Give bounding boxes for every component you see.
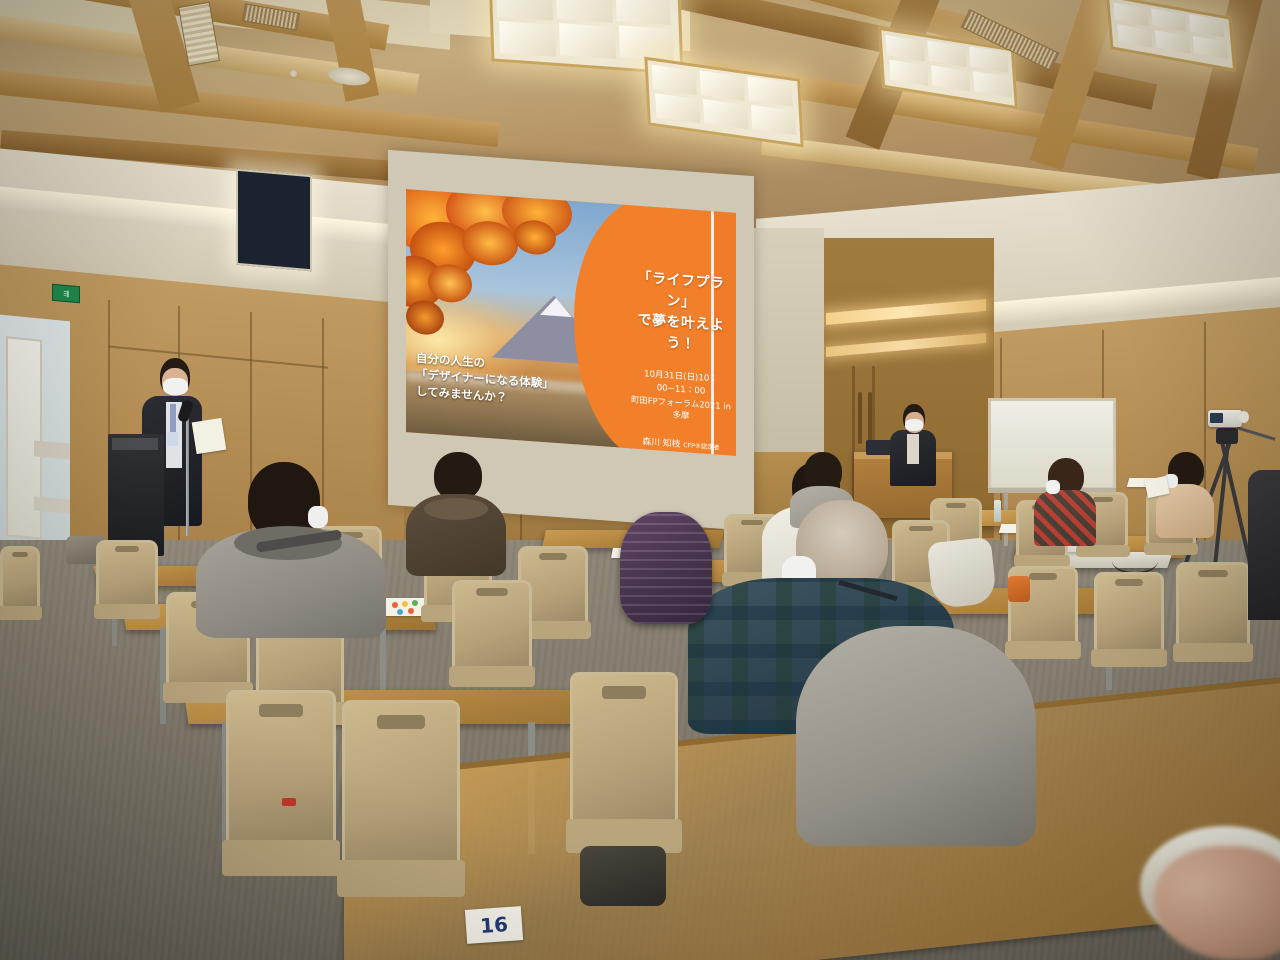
name-badge bbox=[167, 432, 178, 446]
face-mask bbox=[308, 506, 328, 528]
table-clamp bbox=[282, 798, 296, 806]
face-mask bbox=[163, 378, 188, 395]
slide-right-text: 「ライフプラン」 で夢を叶えよう！ 10月31日(日)10：00~11：00 町… bbox=[628, 215, 734, 456]
microphone-stand[interactable] bbox=[186, 416, 189, 536]
tripod-head[interactable] bbox=[1216, 428, 1238, 444]
wall-notice bbox=[34, 440, 70, 459]
slide-headline-line2: で夢を叶えよう！ bbox=[628, 309, 734, 359]
chair[interactable] bbox=[96, 540, 158, 608]
attendee-grey-hoodie bbox=[196, 462, 386, 632]
attendee-patterned-top bbox=[1034, 458, 1096, 540]
av-equipment-rack bbox=[108, 434, 164, 556]
chair[interactable] bbox=[1176, 562, 1250, 648]
partition-door-handle[interactable] bbox=[868, 392, 872, 444]
av-rack-panel bbox=[112, 438, 158, 450]
attendee-grey-fleece bbox=[796, 626, 1036, 846]
chair[interactable] bbox=[1094, 572, 1164, 654]
attendee-brown-hoodie bbox=[406, 452, 506, 572]
chair[interactable] bbox=[342, 700, 460, 870]
ceiling-downlight-icon bbox=[290, 70, 297, 77]
attendee-standing-right-edge bbox=[1248, 470, 1280, 620]
chair[interactable] bbox=[570, 672, 678, 828]
slide-presenter-credential: CFP®認定者 bbox=[683, 442, 719, 452]
face-mask bbox=[905, 419, 923, 431]
script-paper bbox=[192, 418, 227, 454]
purple-down-jacket bbox=[620, 512, 712, 624]
podium-speaker bbox=[890, 404, 938, 488]
chair[interactable] bbox=[0, 546, 40, 610]
wall-speaker-left bbox=[236, 169, 312, 272]
attendee-reading bbox=[1156, 452, 1214, 532]
bag-orange bbox=[1008, 576, 1030, 602]
seminar-room-photo: ⇶ bbox=[0, 0, 1280, 960]
table-number-card: 16 bbox=[465, 906, 523, 944]
table-number-value: 16 bbox=[479, 912, 508, 938]
chair[interactable] bbox=[226, 690, 336, 850]
face-mask bbox=[1046, 480, 1060, 494]
emergency-exit-icon: ⇶ bbox=[52, 284, 80, 303]
water-bottle bbox=[994, 500, 1001, 522]
chair[interactable] bbox=[452, 580, 532, 672]
presentation-slide: 自分の人生の 「デザイナーになる体験」 してみませんか？ 「ライフプラン」 で夢… bbox=[406, 189, 736, 456]
video-camera[interactable] bbox=[1208, 410, 1242, 427]
ceiling-light-panel bbox=[644, 57, 803, 148]
partition-door-handle[interactable] bbox=[858, 392, 862, 444]
bag-dark bbox=[580, 846, 666, 906]
slide-presenter-name: 森川 知枝 bbox=[642, 437, 680, 450]
ceiling-light-panel bbox=[1106, 0, 1236, 72]
